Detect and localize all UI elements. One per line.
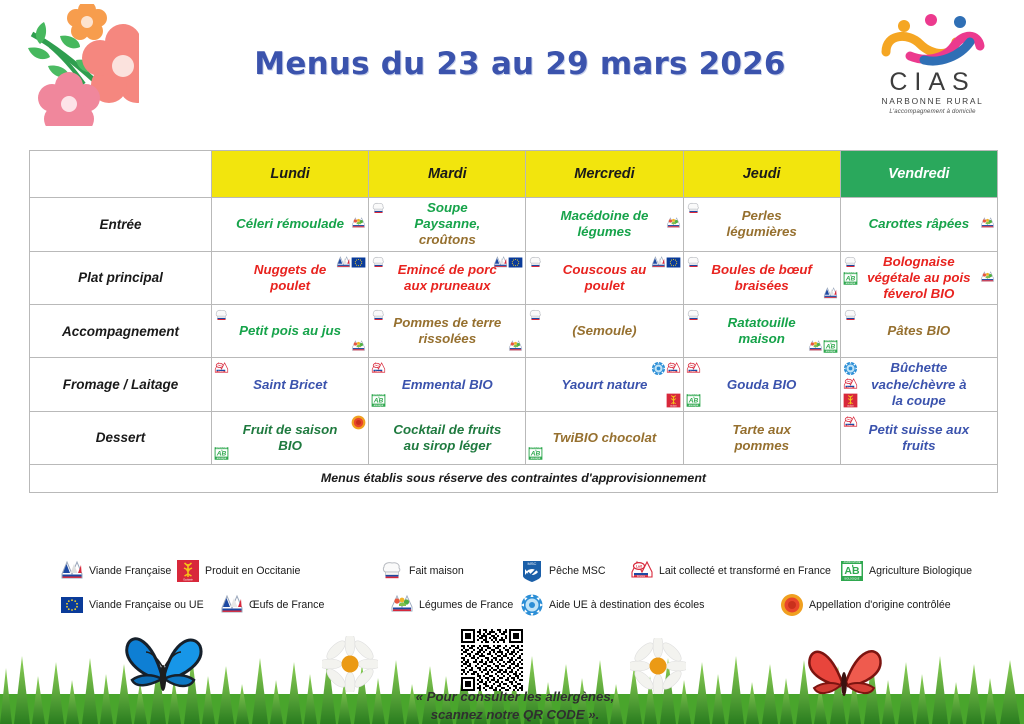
day-header-vendredi: Vendredi (840, 151, 997, 198)
svg-text:Lait: Lait (636, 564, 643, 568)
menu-item-text: vache/chèvre à (860, 377, 978, 393)
menu-item-text: poulet (231, 278, 349, 294)
agriculture-biologique-icon: ABAGRICULTUREBIOLOGIQUE (528, 446, 543, 461)
agriculture-biologique-icon: ABAGRICULTUREBIOLOGIQUE (823, 339, 838, 354)
viande-francaise-icon (336, 255, 351, 270)
menu-item-text: féverol BIO (860, 286, 978, 302)
fait-maison-icon (528, 255, 543, 270)
svg-text:France: France (637, 574, 646, 578)
agriculture-biologique-icon: ABAGRICULTUREBIOLOGIQUE (840, 559, 864, 583)
menu-item-text: rissolées (388, 331, 506, 347)
red-butterfly-icon (800, 642, 888, 706)
menu-cell: (Semoule) (526, 305, 683, 358)
legend-item: Œufs de France (220, 593, 324, 617)
svg-text:Lait: Lait (375, 365, 379, 368)
menu-item-text: au sirop léger (388, 438, 506, 454)
oeufs-de-france-icon (220, 593, 244, 617)
produit-en-occitanie-icon: Occitanie (666, 393, 681, 408)
table-row: Plat principalNuggets depouletEmincé de … (30, 251, 998, 305)
menu-item-text: Yaourt nature (545, 377, 663, 393)
svg-text:AGRICULTURE: AGRICULTURE (844, 561, 861, 564)
lait-de-france-icon: LaitFrance (371, 361, 386, 376)
menu-item-text: croûtons (388, 232, 506, 248)
daisy-icon-left (322, 636, 378, 692)
legend-label: Fait maison (409, 565, 464, 577)
menu-item-text: Couscous au (545, 262, 663, 278)
agriculture-biologique-icon: ABAGRICULTUREBIOLOGIQUE (371, 393, 386, 408)
menu-item-text: TwiBIO chocolat (545, 430, 663, 446)
fait-maison-icon (843, 308, 858, 323)
menu-cell: Emmental BIOLaitFranceABAGRICULTUREBIOLO… (369, 358, 526, 412)
menu-item-text: Gouda BIO (703, 377, 821, 393)
menu-item-text: (Semoule) (545, 323, 663, 339)
menu-cell: Bûchettevache/chèvre àla coupeLaitFrance… (840, 358, 997, 412)
allergens-qr-code[interactable] (461, 629, 523, 691)
legend-row-1: Viande FrançaiseOccitanieProduit en Occi… (60, 556, 1005, 586)
legend-label: Légumes de France (419, 599, 513, 611)
legend-label: Viande Française ou UE (89, 599, 204, 611)
menu-cell: Saint BricetLaitFrance (212, 358, 369, 412)
menu-item-text: Petit suisse aux (860, 422, 978, 438)
menu-item-text: Tarte aux (703, 422, 821, 438)
svg-text:Lait: Lait (846, 418, 850, 421)
svg-text:AB: AB (530, 450, 541, 457)
svg-text:AB: AB (687, 397, 698, 404)
menu-item-text: Soupe (388, 200, 506, 216)
lait-de-france-icon: LaitFrance (843, 415, 858, 430)
table-row: DessertFruit de saisonBIOABAGRICULTUREBI… (30, 411, 998, 464)
legumes-de-france-icon (980, 216, 995, 231)
agriculture-biologique-icon: ABAGRICULTUREBIOLOGIQUE (843, 271, 858, 286)
menu-item-text: Bûchette (860, 360, 978, 376)
fait-maison-icon (686, 255, 701, 270)
fait-maison-icon (371, 255, 386, 270)
appellation-origine-controlee-icon (780, 593, 804, 617)
legend-label: Pêche MSC (549, 565, 606, 577)
daisy-icon-right (630, 638, 686, 694)
menu-cell: Gouda BIOLaitFranceABAGRICULTUREBIOLOGIQ… (683, 358, 840, 412)
aide-ue-ecoles-icon (651, 361, 666, 376)
lait-de-france-icon: LaitFrance (214, 361, 229, 376)
table-row: EntréeCéleri rémouladeSoupePaysanne,croû… (30, 198, 998, 252)
appellation-origine-controlee-icon (351, 415, 366, 430)
menu-item-text: Emincé de porc (388, 262, 506, 278)
aide-ue-ecoles-icon (520, 593, 544, 617)
row-label-1: Plat principal (30, 251, 212, 305)
menu-cell: Boules de bœufbraisées (683, 251, 840, 305)
menu-item-text: Saint Bricet (231, 377, 349, 393)
menu-item-text: braisées (703, 278, 821, 294)
agriculture-biologique-icon: ABAGRICULTUREBIOLOGIQUE (214, 446, 229, 461)
menu-item-text: Céleri rémoulade (231, 216, 349, 232)
menu-item-text: Petit pois au jus (231, 323, 349, 339)
legend-item: Aide UE à destination des écoles (520, 593, 704, 617)
menu-item-text: poulet (545, 278, 663, 294)
fait-maison-icon (843, 255, 858, 270)
lait-de-france-icon: LaitFrance (686, 361, 701, 376)
viande-francaise-icon (651, 255, 666, 270)
svg-text:Lait: Lait (669, 365, 673, 368)
aide-ue-ecoles-icon (843, 361, 858, 376)
menu-cell: Yaourt natureLaitFranceOccitanie (526, 358, 683, 412)
legend-item: OccitanieProduit en Occitanie (176, 559, 300, 583)
scan-qr-instruction: « Pour consulter les allergènes, scannez… (320, 688, 710, 724)
viande-francaise-ue-icon (508, 255, 523, 270)
legend: Viande FrançaiseOccitanieProduit en Occi… (60, 556, 1005, 620)
flower-decoration-icon (14, 4, 139, 126)
row-label-0: Entrée (30, 198, 212, 252)
fait-maison-icon (528, 308, 543, 323)
day-header-lundi: Lundi (212, 151, 369, 198)
menu-cell: Couscous aupoulet (526, 251, 683, 305)
fait-maison-icon (380, 559, 404, 583)
menu-cell: SoupePaysanne,croûtons (369, 198, 526, 252)
legend-label: Appellation d'origine contrôlée (809, 599, 951, 611)
menu-item-text: maison (703, 331, 821, 347)
svg-text:AB: AB (216, 450, 227, 457)
bottom-scene: « Pour consulter les allergènes, scannez… (0, 620, 1024, 724)
svg-text:AB: AB (825, 344, 836, 351)
menu-item-text: Cocktail de fruits (388, 422, 506, 438)
row-label-2: Accompagnement (30, 305, 212, 358)
table-body: EntréeCéleri rémouladeSoupePaysanne,croû… (30, 198, 998, 465)
svg-text:Occitanie: Occitanie (183, 578, 193, 581)
fait-maison-icon (686, 308, 701, 323)
table-row: Fromage / LaitageSaint BricetLaitFranceE… (30, 358, 998, 412)
menu-cell: RatatouillemaisonABAGRICULTUREBIOLOGIQUE (683, 305, 840, 358)
lait-de-france-icon: LaitFrance (843, 377, 858, 392)
menu-item-text: Perles (703, 208, 821, 224)
scan-line-1: « Pour consulter les allergènes, (320, 688, 710, 706)
day-header-mardi: Mardi (369, 151, 526, 198)
fait-maison-icon (371, 201, 386, 216)
menu-item-text: Macédoine de (545, 208, 663, 224)
blue-butterfly-icon (118, 630, 208, 700)
svg-text:Lait: Lait (218, 365, 222, 368)
cias-tagline: L'accompagnement à domicile (870, 109, 995, 115)
menu-item-text: pommes (703, 438, 821, 454)
menu-item-text: végétale au pois (860, 270, 978, 286)
produit-en-occitanie-icon: Occitanie (843, 393, 858, 408)
legumes-de-france-icon (351, 216, 366, 231)
cias-logo: CIAS NARBONNE RURAL L'accompagnement à d… (870, 12, 995, 124)
menu-cell: Cocktail de fruitsau sirop léger (369, 411, 526, 464)
menu-item-text: Paysanne, (388, 216, 506, 232)
legumes-de-france-icon (390, 593, 414, 617)
svg-text:Lait: Lait (846, 381, 850, 384)
lait-de-france-icon: LaitFrance (666, 361, 681, 376)
menu-cell: Carottes râpées (840, 198, 997, 252)
menu-poster: Menus du 23 au 29 mars 2026 CIAS NARBONN… (0, 0, 1024, 724)
legend-label: Œufs de France (249, 599, 324, 611)
svg-text:AB: AB (845, 275, 856, 282)
legend-label: Lait collecté et transformé en France (659, 565, 831, 577)
row-label-3: Fromage / Laitage (30, 358, 212, 412)
legumes-de-france-icon (351, 339, 366, 354)
menu-cell: Pâtes BIO (840, 305, 997, 358)
menu-cell: Petit pois au jus (212, 305, 369, 358)
cias-subtitle: NARBONNE RURAL (870, 96, 995, 106)
menu-footnote: Menus établis sous réserve des contraint… (30, 464, 998, 492)
day-header-mercredi: Mercredi (526, 151, 683, 198)
viande-francaise-icon (60, 559, 84, 583)
menu-cell: Emincé de porcaux pruneaux (369, 251, 526, 305)
weekly-menu-table: LundiMardiMercrediJeudiVendredi EntréeCé… (29, 150, 998, 493)
viande-francaise-ue-icon (351, 255, 366, 270)
legend-item: Fait maison (380, 559, 464, 583)
menu-item-text: Pommes de terre (388, 315, 506, 331)
menu-cell: Perleslégumières (683, 198, 840, 252)
lait-de-france-icon: LaitFrance (630, 559, 654, 583)
fait-maison-icon (214, 308, 229, 323)
menu-cell: Céleri rémoulade (212, 198, 369, 252)
menu-cell: Fruit de saisonBIOABAGRICULTUREBIOLOGIQU… (212, 411, 369, 464)
menu-cell: Nuggets depoulet (212, 251, 369, 305)
cias-wordmark: CIAS (870, 68, 995, 97)
produit-en-occitanie-icon: Occitanie (176, 559, 200, 583)
legend-item: Légumes de France (390, 593, 513, 617)
menu-cell: Tarte auxpommes (683, 411, 840, 464)
page-header: Menus du 23 au 29 mars 2026 CIAS NARBONN… (0, 0, 1024, 140)
legend-row-2: Viande Française ou UEŒufs de FranceLégu… (60, 590, 1005, 620)
viande-francaise-icon (823, 286, 838, 301)
legend-label: Produit en Occitanie (205, 565, 300, 577)
svg-text:MSC: MSC (528, 561, 537, 566)
day-header-jeudi: Jeudi (683, 151, 840, 198)
legend-item: Viande Française ou UE (60, 593, 204, 617)
menu-cell: Macédoine delégumes (526, 198, 683, 252)
menu-item-text: Boules de bœuf (703, 262, 821, 278)
peche-msc-icon: MSC (520, 559, 544, 583)
legend-item: Viande Française (60, 559, 171, 583)
svg-text:BIOLOGIQUE: BIOLOGIQUE (844, 577, 859, 580)
legend-item: Appellation d'origine contrôlée (780, 593, 951, 617)
menu-item-text: Ratatouille (703, 315, 821, 331)
menu-item-text: légumes (545, 224, 663, 240)
legend-label: Aide UE à destination des écoles (549, 599, 704, 611)
menu-item-text: légumières (703, 224, 821, 240)
legumes-de-france-icon (980, 270, 995, 285)
legend-item: ABAGRICULTUREBIOLOGIQUEAgriculture Biolo… (840, 559, 972, 583)
cias-infinity-icon (878, 12, 988, 70)
menu-item-text: aux pruneaux (388, 278, 506, 294)
legumes-de-france-icon (508, 339, 523, 354)
menu-item-text: Pâtes BIO (860, 323, 978, 339)
menu-cell: TwiBIO chocolatABAGRICULTUREBIOLOGIQUE (526, 411, 683, 464)
table-header: LundiMardiMercrediJeudiVendredi (30, 151, 998, 198)
table-row: AccompagnementPetit pois au jusPommes de… (30, 305, 998, 358)
page-title: Menus du 23 au 29 mars 2026 (210, 46, 830, 82)
viande-francaise-ue-icon (60, 593, 84, 617)
menu-item-text: Fruit de saison (231, 422, 349, 438)
svg-text:AB: AB (373, 397, 384, 404)
menu-item-text: Nuggets de (231, 262, 349, 278)
agriculture-biologique-icon: ABAGRICULTUREBIOLOGIQUE (686, 393, 701, 408)
menu-cell: Pommes de terrerissolées (369, 305, 526, 358)
menu-item-text: Carottes râpées (860, 216, 978, 232)
fait-maison-icon (371, 308, 386, 323)
menu-item-text: la coupe (860, 393, 978, 409)
menu-item-text: fruits (860, 438, 978, 454)
legumes-de-france-icon (666, 216, 681, 231)
menu-item-text: Emmental BIO (388, 377, 506, 393)
row-label-4: Dessert (30, 411, 212, 464)
legend-label: Viande Française (89, 565, 171, 577)
scan-line-2: scannez notre QR CODE ». (320, 706, 710, 724)
legumes-de-france-icon (808, 339, 823, 354)
day-header-row: LundiMardiMercrediJeudiVendredi (30, 151, 998, 198)
menu-item-text: BIO (231, 438, 349, 454)
table-corner-cell (30, 151, 212, 198)
menu-item-text: Bolognaise (860, 254, 978, 270)
svg-text:Lait: Lait (689, 365, 693, 368)
legend-item: MSCPêche MSC (520, 559, 606, 583)
viande-francaise-icon (493, 255, 508, 270)
legend-item: LaitFranceLait collecté et transformé en… (630, 559, 831, 583)
table-footer: Menus établis sous réserve des contraint… (30, 464, 998, 492)
menu-cell: Petit suisse auxfruitsLaitFrance (840, 411, 997, 464)
viande-francaise-ue-icon (666, 255, 681, 270)
menu-cell: Bolognaisevégétale au poisféverol BIOABA… (840, 251, 997, 305)
fait-maison-icon (686, 201, 701, 216)
legend-label: Agriculture Biologique (869, 565, 972, 577)
